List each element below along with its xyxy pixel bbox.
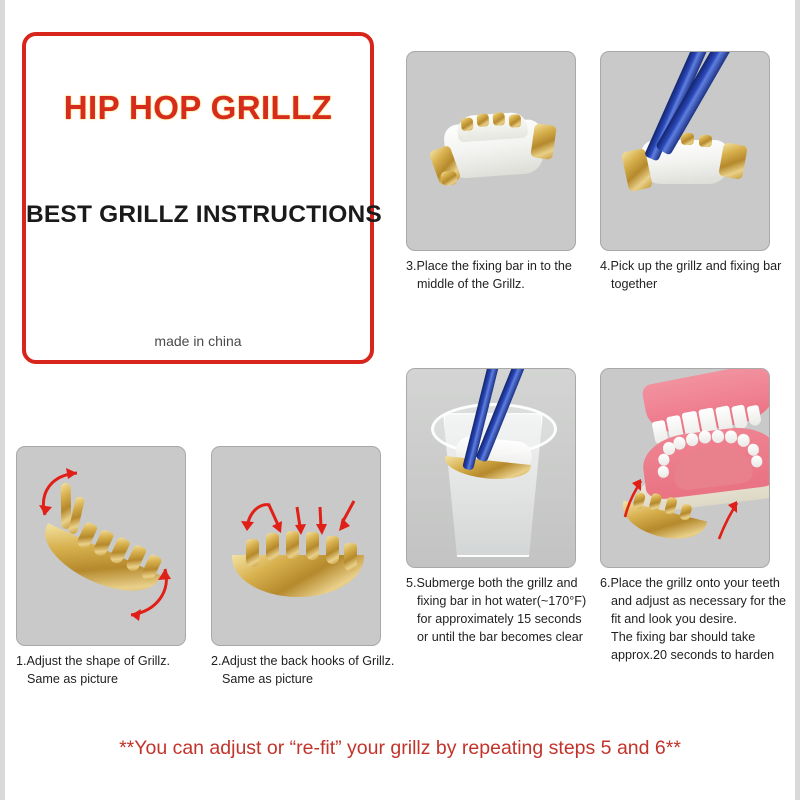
hook-arrow-5 [332,499,362,541]
bend-arrow-upper [37,465,97,527]
step-5-caption-line-3: for approximately 15 seconds [406,611,594,629]
step-1-photo [16,446,186,646]
step-3-caption-line-2: middle of the Grillz. [406,276,594,294]
grillz-with-fixing-bar-illustration [431,110,558,190]
hook-arrow-4 [312,505,334,543]
brand-title: HIP HOP GRILLZ [26,89,370,127]
step-6-caption-line-4: The fixing bar should take [600,629,788,647]
step-6-caption: 6.Place the grillz onto your teeth and a… [600,575,788,664]
step-1-caption: 1.Adjust the shape of Grillz. Same as pi… [16,653,204,689]
step-5-caption-line-1: 5.Submerge both the grillz and [406,575,594,593]
step-6-photo [600,368,770,568]
grillz-in-tweezers-illustration [623,136,751,194]
instructions-subtitle: BEST GRILLZ INSTRUCTIONS [26,201,370,229]
page-right-edge-strip [795,0,800,800]
step-5-caption-line-4: or until the bar becomes clear [406,629,594,647]
step-6-caption-line-5: approx.20 seconds to harden [600,647,788,665]
step-1-caption-line-1: 1.Adjust the shape of Grillz. [16,653,204,671]
title-box: HIP HOP GRILLZ BEST GRILLZ INSTRUCTIONS … [22,32,374,364]
insert-arrow-right [711,497,747,541]
step-4: 4.Pick up the grillz and fixing bar toge… [600,51,788,294]
page-left-edge-strip [0,0,5,800]
hook-arrow-2 [266,503,292,541]
step-3-caption: 3.Place the fixing bar in to the middle … [406,258,594,294]
gold-grillz-front-illustration [232,535,364,597]
step-1: 1.Adjust the shape of Grillz. Same as pi… [16,446,204,689]
hook-arrow-3 [290,505,312,543]
step-2-caption-line-2: Same as picture [211,671,399,689]
step-5-caption: 5.Submerge both the grillz and fixing ba… [406,575,594,647]
step-1-caption-line-2: Same as picture [16,671,204,689]
step-3-caption-line-1: 3.Place the fixing bar in to the [406,258,594,276]
step-6-caption-line-2: and adjust as necessary for the [600,593,788,611]
step-6-caption-line-1: 6.Place the grillz onto your teeth [600,575,788,593]
step-4-caption-line-2: together [600,276,788,294]
dental-model [639,373,770,501]
step-2: 2.Adjust the back hooks of Grillz. Same … [211,446,399,689]
insert-arrow-left [619,475,655,519]
step-3-photo [406,51,576,251]
bend-arrow-lower [113,559,175,623]
step-4-caption: 4.Pick up the grillz and fixing bar toge… [600,258,788,294]
step-2-photo [211,446,381,646]
footer-note: **You can adjust or “re-fit” your grillz… [0,737,800,760]
step-2-caption-line-1: 2.Adjust the back hooks of Grillz. [211,653,399,671]
step-4-caption-line-1: 4.Pick up the grillz and fixing bar [600,258,788,276]
origin-note: made in china [26,333,370,349]
step-5: 5.Submerge both the grillz and fixing ba… [406,368,594,647]
step-2-caption: 2.Adjust the back hooks of Grillz. Same … [211,653,399,689]
step-6-caption-line-3: fit and look you desire. [600,611,788,629]
lower-cavity [671,442,753,491]
step-3: 3.Place the fixing bar in to the middle … [406,51,594,294]
step-4-photo [600,51,770,251]
step-5-caption-line-2: fixing bar in hot water(~170°F) [406,593,594,611]
step-5-photo [406,368,576,568]
step-6: 6.Place the grillz onto your teeth and a… [600,368,788,664]
